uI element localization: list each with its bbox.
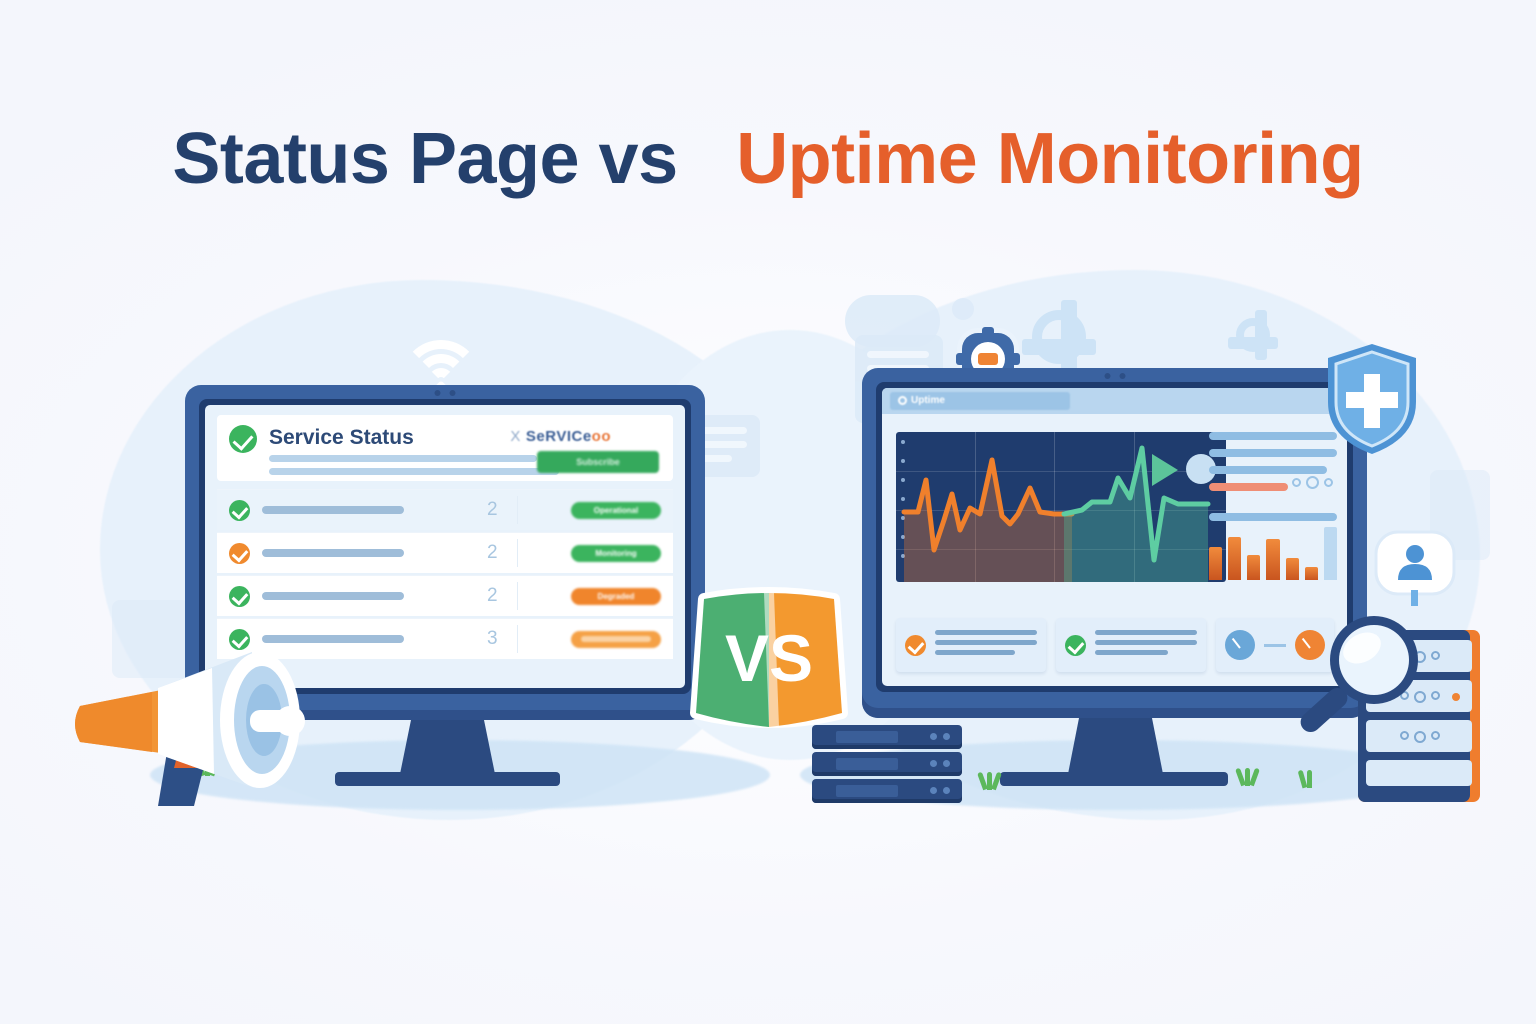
monitor-camera-dots (1104, 373, 1125, 379)
circle-icon (1324, 478, 1333, 487)
header-placeholder-line (269, 468, 559, 475)
bar (1209, 547, 1222, 580)
row-count: 2 (487, 499, 498, 521)
title-part-one: Status Page vs (172, 119, 677, 199)
row-placeholder-bar (262, 592, 404, 600)
right-monitor-stand-neck (1068, 716, 1163, 774)
right-monitor-stand-base (1000, 772, 1228, 786)
title-part-two: Uptime Monitoring (736, 119, 1363, 199)
service-status-title: Service Status (269, 426, 414, 450)
bar (1286, 558, 1299, 580)
card-placeholder-lines (935, 630, 1037, 660)
row-placeholder-bar (262, 549, 404, 557)
usage-bar-chart (1209, 506, 1337, 580)
table-row[interactable]: 2 Monitoring (217, 532, 673, 573)
response-time-chart (896, 432, 1226, 582)
bar (1305, 567, 1318, 580)
service-status-header: Service Status XSeRVICeoo Subscribe (217, 415, 673, 481)
status-cards (896, 618, 1337, 672)
page-title: Status Page vs Uptime Monitoring (0, 118, 1536, 200)
check-circle-icon (229, 543, 250, 564)
vs-badge-label: VS (725, 621, 813, 695)
placeholder-line-highlight (1209, 483, 1288, 491)
gauge-icon (1225, 630, 1255, 660)
row-divider (517, 625, 518, 653)
check-circle-icon (229, 500, 250, 521)
circle-icon (1306, 476, 1319, 489)
status-badge: Operational (571, 502, 661, 519)
brand-prefix: X (510, 428, 521, 445)
service-brand-logo: XSeRVICeoo (510, 428, 611, 445)
row-placeholder-bar (262, 506, 404, 514)
circle-icon (898, 396, 907, 405)
placeholder-line (1209, 449, 1337, 457)
tab-label: Uptime (911, 395, 945, 406)
check-circle-icon (1065, 635, 1086, 656)
bar (1247, 555, 1260, 580)
status-card[interactable] (1056, 618, 1206, 672)
background-card (952, 298, 974, 320)
monitor-camera-dots (435, 390, 456, 396)
tab-uptime[interactable]: Uptime (890, 392, 1070, 410)
table-row[interactable]: 2 Degraded (217, 575, 673, 616)
shield-cross-icon (1322, 340, 1422, 458)
row-divider (517, 496, 518, 524)
megaphone-icon (62, 618, 332, 813)
row-divider (517, 539, 518, 567)
check-circle-icon (905, 635, 926, 656)
uptime-dashboard-screen: Uptime (882, 388, 1347, 686)
gear-icon (1236, 318, 1270, 352)
brand-name: SeRVICe (526, 428, 592, 445)
vs-badge: VS (686, 585, 852, 735)
placeholder-line (1209, 432, 1337, 440)
check-circle-icon (229, 586, 250, 607)
circle-icon (1292, 478, 1301, 487)
subscribe-button[interactable]: Subscribe (537, 451, 659, 473)
brand-suffix: oo (592, 428, 611, 445)
status-badge: Degraded (571, 588, 661, 605)
server-stack-icon (812, 725, 972, 805)
bar (1228, 537, 1241, 580)
status-badge: Monitoring (571, 545, 661, 562)
bar (1324, 527, 1337, 580)
play-triangle-icon (1152, 454, 1178, 486)
table-row[interactable]: 2 Operational (217, 489, 673, 530)
left-monitor-stand-neck (400, 718, 495, 774)
row-count: 2 (487, 585, 498, 607)
status-ring-icons (1292, 476, 1333, 489)
card-placeholder-lines (1095, 630, 1197, 660)
row-count: 3 (487, 628, 498, 650)
magnifier-icon (1292, 610, 1427, 745)
status-badge (571, 631, 661, 648)
left-monitor-stand-base (335, 772, 560, 786)
row-divider (517, 582, 518, 610)
connector-line (1264, 644, 1286, 647)
vs-badge-shape: VS (686, 585, 852, 735)
gear-icon (1032, 310, 1086, 364)
row-count: 2 (487, 542, 498, 564)
header-placeholder-line (269, 455, 537, 462)
check-circle-icon (229, 425, 257, 453)
user-avatar-icon (1372, 528, 1458, 606)
status-card[interactable] (896, 618, 1046, 672)
bar (1266, 539, 1279, 580)
placeholder-line (1209, 466, 1327, 474)
server-rack-row (1366, 760, 1472, 786)
